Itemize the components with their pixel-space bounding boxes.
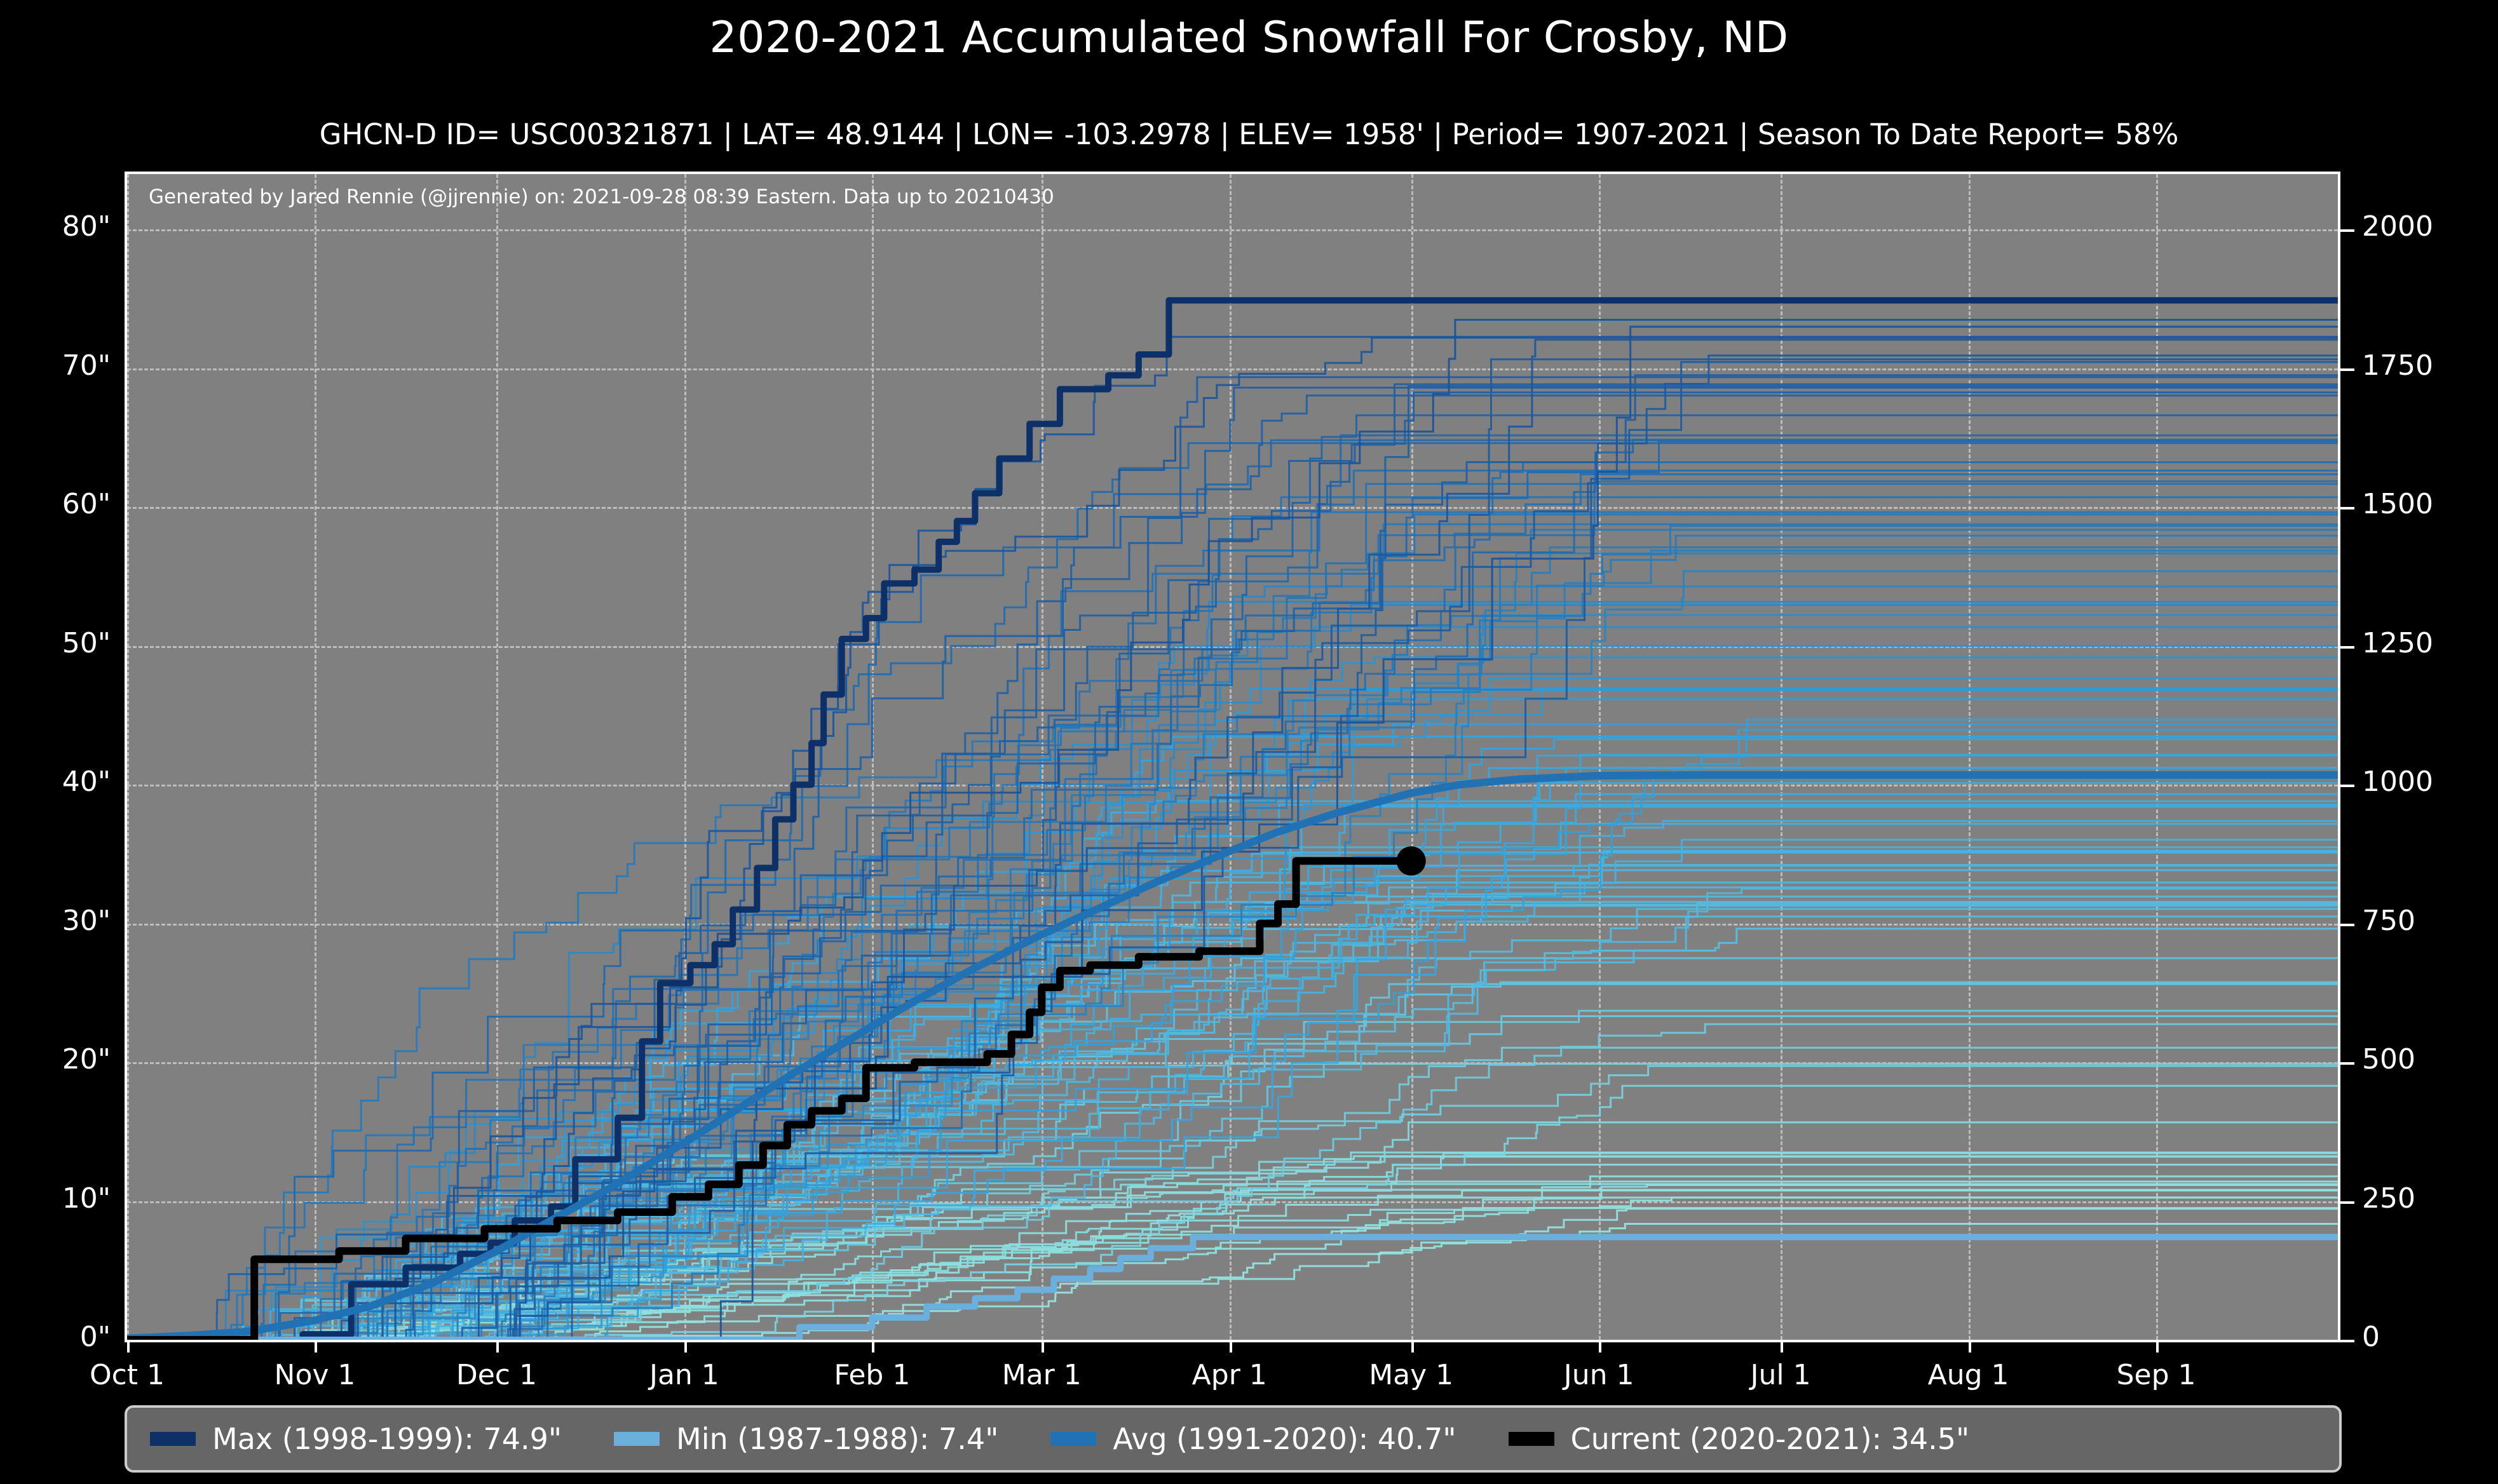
legend-swatch-avg bbox=[1050, 1432, 1096, 1446]
y-tick-mark-right bbox=[2340, 1201, 2354, 1204]
y-tick-label-right: 750 bbox=[2362, 905, 2415, 937]
x-tick-label: Jun 1 bbox=[1564, 1359, 1634, 1391]
y-tick-label-right: 1000 bbox=[2362, 766, 2433, 798]
x-tick-mark bbox=[2156, 1342, 2159, 1352]
y-tick-label-right: 500 bbox=[2362, 1043, 2415, 1076]
x-tick-mark bbox=[1042, 1342, 1044, 1352]
y-tick-mark-right bbox=[2340, 1340, 2354, 1342]
legend-item-current[interactable]: Current (2020-2021): 34.5" bbox=[1509, 1422, 1970, 1456]
plot-area: Generated by Jared Rennie (@jjrennie) on… bbox=[125, 172, 2340, 1342]
x-tick-label: Dec 1 bbox=[456, 1359, 537, 1391]
x-tick-label: Jan 1 bbox=[649, 1359, 719, 1391]
x-tick-mark bbox=[1599, 1342, 1601, 1352]
y-tick-mark-right bbox=[2340, 785, 2354, 787]
y-tick-mark-right bbox=[2340, 229, 2354, 232]
current-end-marker bbox=[1397, 846, 1426, 875]
y-tick-label-left: 50" bbox=[0, 627, 111, 659]
legend-swatch-min bbox=[614, 1432, 660, 1446]
y-tick-label-right: 250 bbox=[2362, 1182, 2415, 1215]
y-tick-label-right: 2000 bbox=[2362, 210, 2433, 243]
chart-subtitle: GHCN-D ID= USC00321871 | LAT= 48.9144 | … bbox=[0, 118, 2498, 151]
x-tick-label: May 1 bbox=[1369, 1359, 1453, 1391]
x-tick-label: Sep 1 bbox=[2117, 1359, 2196, 1391]
y-tick-label-left: 80" bbox=[0, 210, 111, 243]
x-tick-label: Mar 1 bbox=[1002, 1359, 1082, 1391]
x-tick-mark bbox=[1411, 1342, 1414, 1352]
y-tick-label-left: 70" bbox=[0, 349, 111, 382]
legend-item-max[interactable]: Max (1998-1999): 74.9" bbox=[150, 1422, 562, 1456]
historical-season-line bbox=[127, 320, 2338, 1340]
y-tick-label-right: 1250 bbox=[2362, 627, 2433, 659]
x-tick-mark bbox=[496, 1342, 499, 1352]
x-tick-label: Aug 1 bbox=[1928, 1359, 2009, 1391]
x-tick-label: Nov 1 bbox=[275, 1359, 356, 1391]
y-tick-label-left: 40" bbox=[0, 766, 111, 798]
x-tick-mark bbox=[684, 1342, 687, 1352]
legend-swatch-max bbox=[150, 1432, 196, 1446]
y-tick-label-left: 20" bbox=[0, 1043, 111, 1076]
left-axis-region: Accumulated Snowfall (inches) bbox=[0, 172, 125, 1342]
x-tick-mark bbox=[1781, 1342, 1783, 1352]
y-tick-mark-right bbox=[2340, 646, 2354, 649]
y-tick-label-left: 60" bbox=[0, 488, 111, 520]
legend-swatch-current bbox=[1509, 1432, 1554, 1446]
figure-root: 2020-2021 Accumulated Snowfall For Crosb… bbox=[0, 0, 2498, 1484]
legend-label-min: Min (1987-1988): 7.4" bbox=[676, 1422, 998, 1456]
y-tick-label-left: 0" bbox=[0, 1321, 111, 1353]
x-tick-label: Jul 1 bbox=[1751, 1359, 1811, 1391]
legend-item-avg[interactable]: Avg (1991-2020): 40.7" bbox=[1050, 1422, 1456, 1456]
y-tick-label-left: 30" bbox=[0, 905, 111, 937]
y-tick-label-right: 1750 bbox=[2362, 349, 2433, 382]
legend: Max (1998-1999): 74.9" Min (1987-1988): … bbox=[125, 1405, 2342, 1473]
y-tick-label-right: 0 bbox=[2362, 1321, 2380, 1353]
plot-inner: Generated by Jared Rennie (@jjrennie) on… bbox=[127, 174, 2338, 1340]
x-tick-mark bbox=[1230, 1342, 1232, 1352]
legend-item-min[interactable]: Min (1987-1988): 7.4" bbox=[614, 1422, 998, 1456]
y-tick-mark-right bbox=[2340, 368, 2354, 371]
x-tick-mark bbox=[315, 1342, 317, 1352]
legend-label-max: Max (1998-1999): 74.9" bbox=[212, 1422, 562, 1456]
series-layer bbox=[127, 174, 2338, 1340]
page-title: 2020-2021 Accumulated Snowfall For Crosb… bbox=[0, 13, 2498, 63]
y-tick-mark-right bbox=[2340, 1062, 2354, 1065]
x-tick-mark bbox=[1969, 1342, 1971, 1352]
x-tick-mark bbox=[127, 1342, 130, 1352]
attribution-text: Generated by Jared Rennie (@jjrennie) on… bbox=[149, 185, 1054, 208]
y-tick-label-right: 1500 bbox=[2362, 488, 2433, 520]
x-tick-label: Apr 1 bbox=[1192, 1359, 1267, 1391]
x-tick-mark bbox=[872, 1342, 874, 1352]
x-tick-label: Oct 1 bbox=[90, 1359, 165, 1391]
y-tick-mark-right bbox=[2340, 924, 2354, 926]
legend-label-current: Current (2020-2021): 34.5" bbox=[1571, 1422, 1970, 1456]
y-tick-label-left: 10" bbox=[0, 1182, 111, 1215]
y-tick-mark-right bbox=[2340, 507, 2354, 509]
right-axis-region: Accumulated Snowfall (mm) bbox=[2340, 172, 2498, 1342]
legend-label-avg: Avg (1991-2020): 40.7" bbox=[1113, 1422, 1456, 1456]
x-tick-label: Feb 1 bbox=[834, 1359, 910, 1391]
